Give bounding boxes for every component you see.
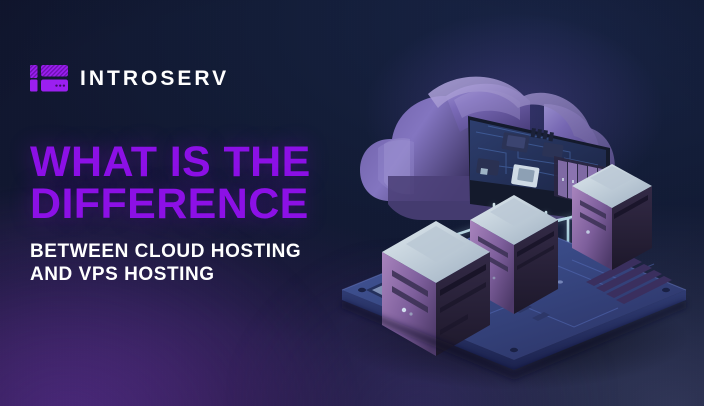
server-rack-icon [30,63,68,93]
headline-title: WHAT IS THE DIFFERENCE [30,141,311,225]
brand-name: INTROSERV [80,68,229,89]
brand-logo[interactable]: INTROSERV [30,63,229,93]
hosting-comparison-banner: INTROSERV WHAT IS THE DIFFERENCE BETWEEN… [0,0,704,406]
server-tower-right [572,164,652,270]
cloud-hosting-3d-illustration [318,8,704,400]
subheading-text: BETWEEN CLOUD HOSTING AND VPS HOSTING [30,240,301,286]
